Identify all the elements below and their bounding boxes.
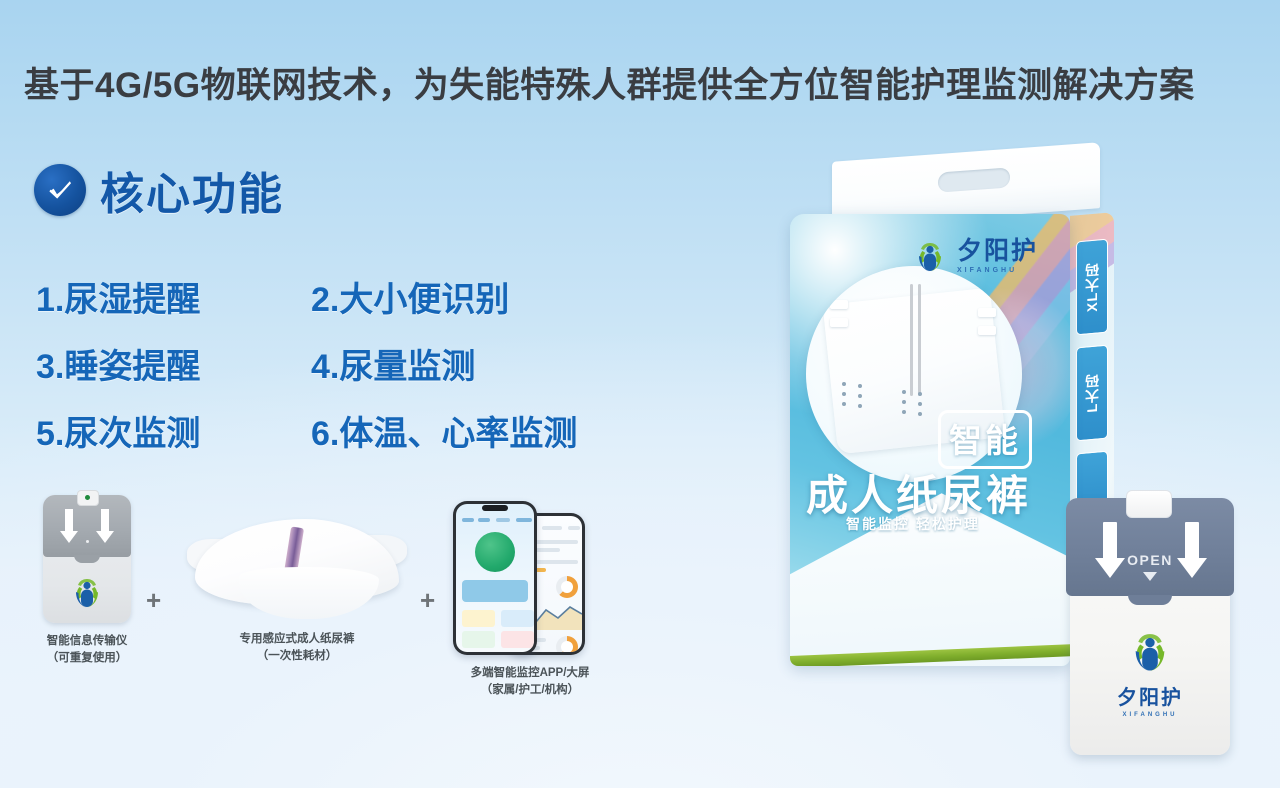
component-diaper: 专用感应式成人纸尿裤 （一次性耗材） [172,505,422,664]
promo-poster: 基于4G/5G物联网技术，为失能特殊人群提供全方位智能护理监测解决方案 核心功能… [0,0,1280,788]
device-open-arrow-icon [1143,572,1157,581]
device-brand-en: XIFANGHU [1070,712,1230,718]
device-brand: 夕阳护 XIFANGHU [1070,628,1230,718]
size-badge-xl: XL大码 [1076,239,1108,336]
package-brand-en: XIFANGHU [957,267,1038,274]
size-badge-l: L大码 [1076,345,1108,442]
component-strip: 智能信息传输仪 （可重复使用） + 专用感应式成人纸尿裤 （一次性耗材） + [0,495,640,745]
plus-separator-1: + [146,587,161,613]
package-smart-label: 智能 [938,410,1032,469]
plus-separator-2: + [420,587,435,613]
page-headline: 基于4G/5G物联网技术，为失能特殊人群提供全方位智能护理监测解决方案 [24,57,1260,108]
transmitter-device-icon [43,495,131,623]
package-front-face: 夕阳护 XIFANGHU 智能 成人纸尿裤 智能监控 轻松护理 [790,214,1070,666]
package-slogan: 智能监控 轻松护理 [846,514,980,534]
feature-item-3: 3.睡姿提醒 [36,339,301,388]
brand-logo-icon [910,238,950,274]
feature-item-1: 1.尿湿提醒 [36,272,301,321]
component-caption-transmitter: 智能信息传输仪 （可重复使用） [12,633,162,666]
device-notch [1126,490,1172,518]
package-brand-cn: 夕阳护 [957,239,1038,264]
feature-item-5: 5.尿次监测 [36,406,301,455]
device-brand-cn: 夕阳护 [1070,681,1230,710]
component-transmitter: 智能信息传输仪 （可重复使用） [12,495,162,666]
adult-diaper-icon [187,505,407,625]
brand-logo-icon [67,575,107,609]
core-function-title: 核心功能 [100,158,284,222]
feature-item-2: 2.大小便识别 [311,272,577,321]
core-function-heading: 核心功能 [34,158,284,222]
mobile-app-icon [445,497,615,657]
phone-front [453,501,537,655]
feature-item-6: 6.体温、心率监测 [311,406,577,455]
component-caption-app: 多端智能监控APP/大屏 （家属/护工/机构） [440,665,620,698]
feature-item-4: 4.尿量监测 [311,339,577,388]
component-caption-diaper: 专用感应式成人纸尿裤 （一次性耗材） [172,631,422,664]
check-circle-icon [34,164,86,216]
package-brand: 夕阳护 XIFANGHU [910,238,1038,274]
feature-list: 1.尿湿提醒 2.大小便识别 3.睡姿提醒 4.尿量监测 5.尿次监测 6.体温… [36,272,577,455]
component-app: 多端智能监控APP/大屏 （家属/护工/机构） [440,497,620,698]
device-tab [1128,595,1172,605]
transmitter-device-large: OPEN 夕阳护 XIFANGHU [1070,500,1230,755]
device-open-label: OPEN [1070,552,1230,568]
product-package: XL大码 L大码 [770,152,1110,692]
status-ring [475,532,515,572]
brand-logo-icon [1124,628,1176,674]
